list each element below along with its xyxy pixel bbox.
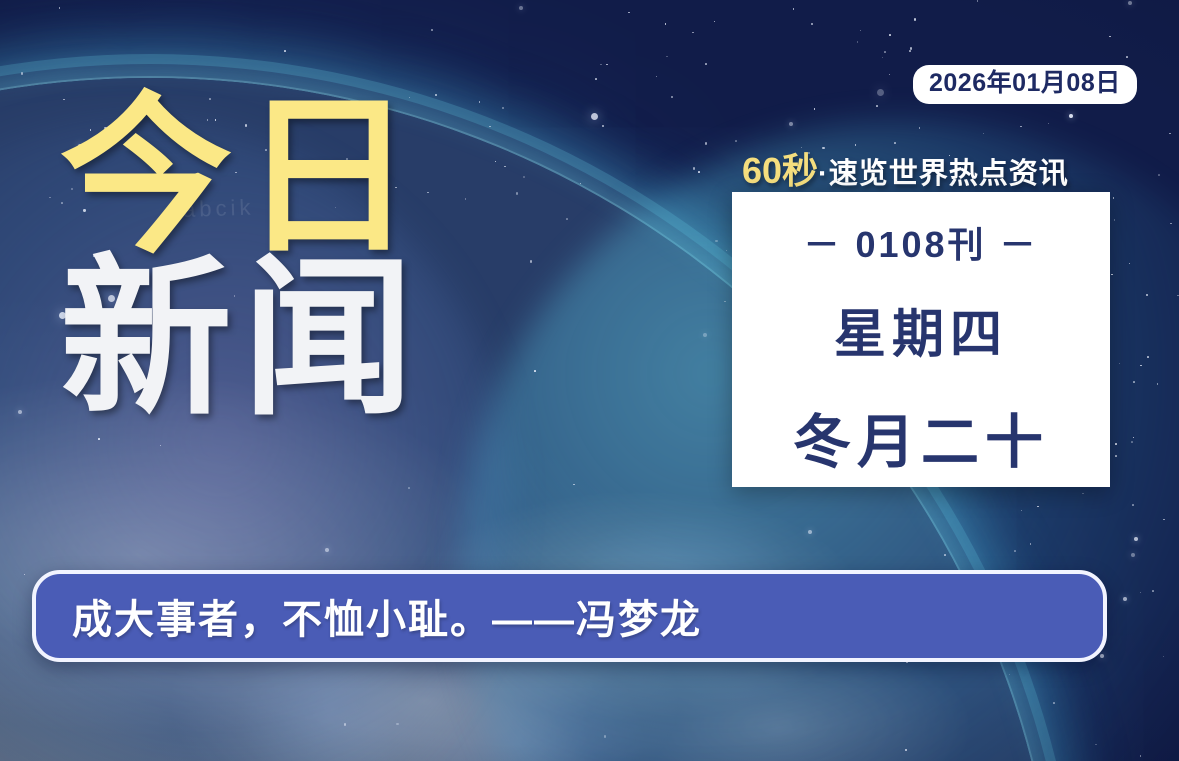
date-badge: 2026年01月08日 — [913, 65, 1137, 104]
page-title: 今日 新闻 — [60, 98, 424, 418]
quote-banner: 成大事者，不恤小耻。——冯梦龙 — [32, 570, 1107, 662]
tagline: 60秒·速览世界热点资讯 — [742, 142, 1069, 194]
issue-number: － 0108刊 － — [803, 216, 1038, 268]
issue-card: － 0108刊 － 星期四 冬月二十 — [732, 192, 1110, 487]
poster-content: sabcik 2026年01月08日 今日 新闻 60秒·速览世界热点资讯 － … — [0, 0, 1179, 761]
tagline-description: ·速览世界热点资讯 — [818, 158, 1069, 190]
weekday-label: 星期四 — [834, 292, 1008, 367]
poster-canvas: sabcik 2026年01月08日 今日 新闻 60秒·速览世界热点资讯 － … — [0, 0, 1179, 761]
lunar-date-label: 冬月二十 — [793, 395, 1049, 479]
brand-line-news: 新闻 — [60, 260, 424, 418]
quote-text: 成大事者，不恤小耻。——冯梦龙 — [36, 587, 702, 645]
brand-line-today: 今日 — [60, 98, 424, 256]
tagline-seconds: 60秒 — [742, 150, 818, 191]
